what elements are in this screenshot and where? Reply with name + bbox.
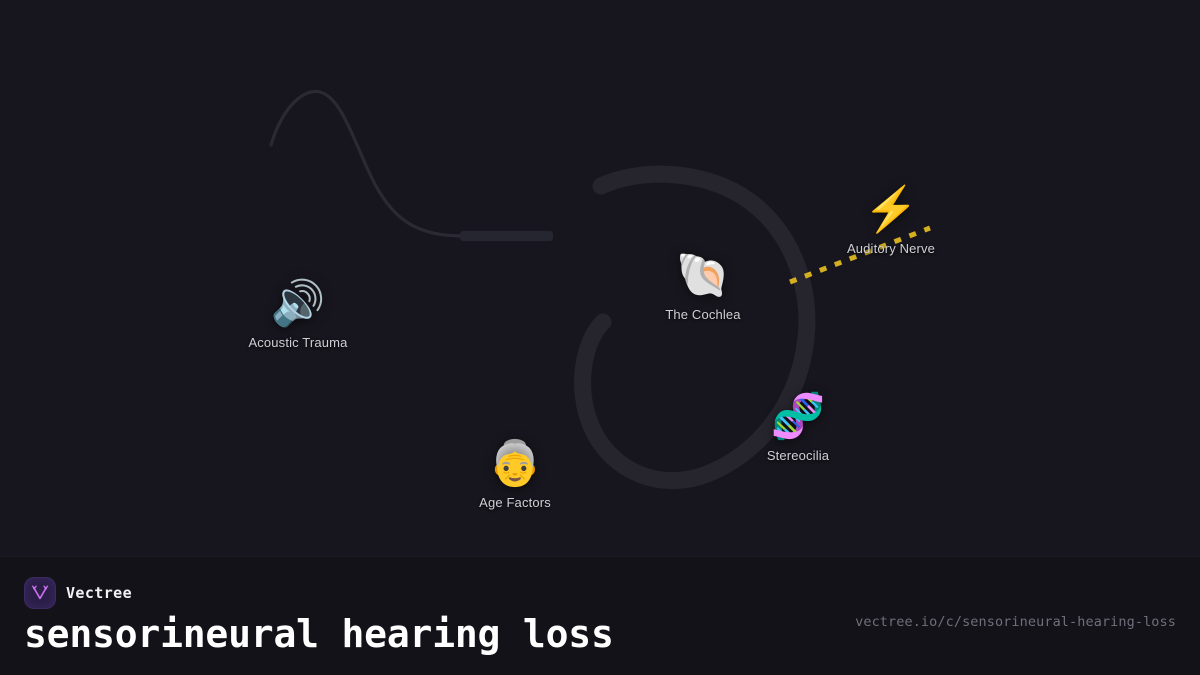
vectree-logo-icon xyxy=(24,577,56,609)
graph-canvas[interactable]: 🔊 Acoustic Trauma 🐚 The Cochlea ⚡ Audito… xyxy=(0,0,1200,556)
footer-url: vectree.io/c/sensorineural-hearing-loss xyxy=(855,614,1176,630)
graph-node-stereocilia[interactable]: 🧬 Stereocilia xyxy=(723,385,873,467)
graph-node-label: Acoustic Trauma xyxy=(248,335,347,350)
graph-node-label: Auditory Nerve xyxy=(847,241,935,256)
graph-node-label: Stereocilia xyxy=(767,448,829,463)
graph-node-age-factors[interactable]: 👵 Age Factors xyxy=(440,432,590,514)
audiogram-flatline-icon xyxy=(460,231,553,241)
graph-node-label: The Cochlea xyxy=(665,307,740,322)
graph-node-label: Age Factors xyxy=(479,495,551,510)
brand-block[interactable]: Vectree xyxy=(24,577,132,609)
page-title: sensorineural hearing loss xyxy=(24,612,614,656)
graph-node-auditory-nerve[interactable]: ⚡ Auditory Nerve xyxy=(816,178,966,260)
graph-node-the-cochlea[interactable]: 🐚 The Cochlea xyxy=(628,244,778,326)
dna-icon: 🧬 xyxy=(771,391,826,443)
screenshot-root: 🔊 Acoustic Trauma 🐚 The Cochlea ⚡ Audito… xyxy=(0,0,1200,675)
spiral-shell-icon: 🐚 xyxy=(676,250,731,302)
loudspeaker-icon: 🔊 xyxy=(271,278,326,330)
audiogram-curve-icon xyxy=(271,91,466,236)
graph-node-acoustic-trauma[interactable]: 🔊 Acoustic Trauma xyxy=(223,272,373,354)
canvas-decorations xyxy=(0,0,1200,556)
brand-name: Vectree xyxy=(66,584,132,602)
lightning-bolt-icon: ⚡ xyxy=(864,184,919,236)
older-woman-icon: 👵 xyxy=(488,438,543,490)
